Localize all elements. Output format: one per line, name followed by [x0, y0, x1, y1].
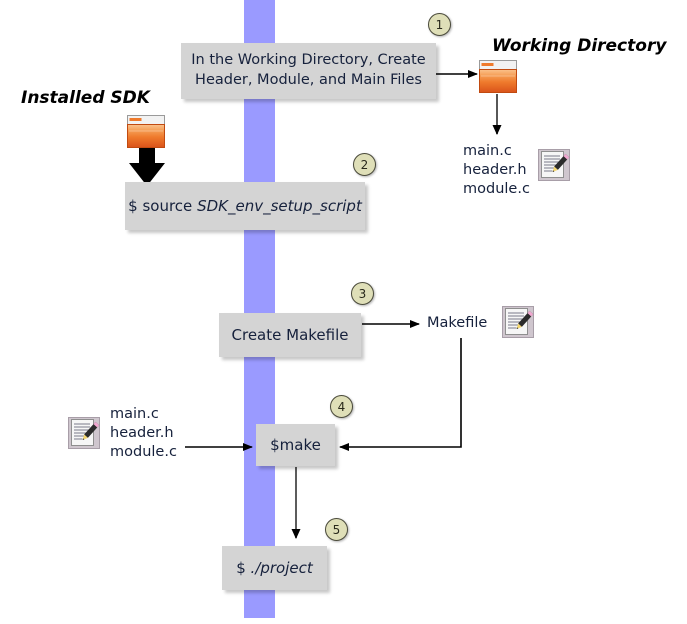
file-name: header.h — [110, 424, 177, 443]
folder-icon — [127, 115, 165, 148]
folder-icon — [479, 60, 517, 93]
file-list-working-directory: main.c header.h module.c — [463, 142, 530, 199]
box-make-label: $make — [270, 435, 321, 455]
step-badge-1: 1 — [428, 13, 451, 36]
box-project-prefix: $ — [236, 559, 250, 577]
step-box-source-sdk[interactable]: $ source SDK_env_setup_script — [125, 182, 365, 230]
step-box-make[interactable]: $make — [256, 424, 335, 466]
box-create-files-line2: Header, Module, and Main Files — [191, 71, 425, 91]
notepad-pencil-icon — [68, 417, 100, 449]
heading-installed-sdk: Installed SDK — [21, 88, 150, 108]
step-box-project[interactable]: $ ./project — [222, 546, 327, 590]
artifact-label-makefile: Makefile — [427, 314, 487, 333]
diagram-canvas: Installed SDK Working Directory In the W… — [0, 0, 687, 624]
step-box-create-files[interactable]: In the Working Directory, Create Header,… — [181, 43, 436, 99]
file-name: header.h — [463, 161, 530, 180]
box-source-script: SDK_env_setup_script — [197, 197, 362, 215]
step-badge-3: 3 — [351, 282, 374, 305]
box-create-makefile-label: Create Makefile — [232, 325, 349, 345]
file-name: main.c — [110, 405, 177, 424]
notepad-pencil-icon — [502, 306, 534, 338]
step-box-create-makefile[interactable]: Create Makefile — [219, 313, 361, 357]
step-badge-4: 4 — [330, 395, 353, 418]
notepad-pencil-icon — [538, 149, 570, 181]
step-badge-5: 5 — [325, 518, 348, 541]
box-project-command: ./project — [251, 559, 313, 577]
heading-working-directory: Working Directory — [492, 36, 666, 56]
step-badge-2: 2 — [353, 153, 376, 176]
file-name: main.c — [463, 142, 530, 161]
file-list-make-inputs: main.c header.h module.c — [110, 405, 177, 462]
file-name: module.c — [463, 180, 530, 199]
box-create-files-line1: In the Working Directory, Create — [191, 51, 425, 71]
box-source-prefix: $ source — [128, 197, 197, 215]
file-name: module.c — [110, 443, 177, 462]
